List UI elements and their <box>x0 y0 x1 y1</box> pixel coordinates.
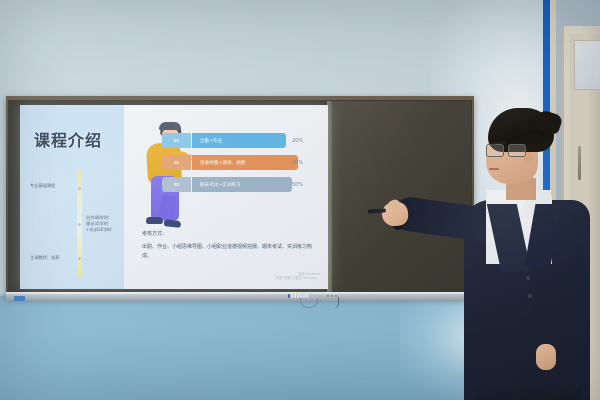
home-button[interactable] <box>306 294 308 298</box>
presenter <box>390 108 590 400</box>
assessment-heading: 考核方式： <box>142 230 167 237</box>
volume-down-button[interactable] <box>294 294 296 298</box>
timeline-item-1-label: 专业基础课程 <box>30 183 76 189</box>
glasses-lens-left <box>486 144 504 157</box>
presenter-trousers <box>476 386 582 400</box>
illustration-hair-top <box>159 122 181 130</box>
glasses-icon <box>486 144 526 155</box>
board-brand-badge <box>14 296 25 301</box>
input-button[interactable] <box>291 294 293 298</box>
bar-2-label: 思维导图+演讲、视频 <box>192 155 298 170</box>
bar-3-number: 03 <box>162 177 191 192</box>
bar-3-percent: 50% <box>292 182 303 188</box>
assessment-bar-3: 03 期末考试+实训练习 <box>162 177 284 192</box>
bar-3-label: 期末考试+实训练习 <box>192 177 292 192</box>
bar-1-number: 01 <box>162 133 191 148</box>
bar-1-label: 出勤+作业 <box>192 133 286 148</box>
power-button[interactable] <box>288 294 290 298</box>
timeline-item-2-label: 总共48学时： 理论32学时 +实训16学时 <box>86 215 126 233</box>
source-button[interactable] <box>303 294 305 298</box>
timeline-dot-3 <box>78 257 81 260</box>
slide-title: 课程介绍 <box>34 127 102 151</box>
door-window <box>574 40 600 90</box>
timeline-dot-2 <box>78 223 81 226</box>
illustration-shoe-right <box>164 219 182 228</box>
menu-button[interactable] <box>300 294 302 298</box>
assessment-bar-2: 02 思维导图+演讲、视频 <box>162 155 290 170</box>
glasses-lens-right <box>508 144 526 157</box>
bar-2-percent: 30% <box>292 160 303 166</box>
classroom-photo: 课程介绍 专业基础课程 总共48学时： 理论32学时 +实训16学时 主讲教师：… <box>0 0 600 400</box>
volume-up-button[interactable] <box>297 294 299 298</box>
windows-activation-watermark: 激活 Windows 转到“设置”以激活 Windows。 <box>276 272 320 281</box>
presenter-resting-hand <box>536 344 556 370</box>
illustration-shoe-left <box>146 217 163 224</box>
assessment-bar-1: 01 出勤+作业 <box>162 133 278 148</box>
timeline-item-3-label: 主讲教师：张燕 <box>30 255 78 261</box>
indicator-1 <box>327 295 329 297</box>
bar-1-percent: 20% <box>292 138 303 144</box>
presenter-jacket-button-2 <box>528 294 532 298</box>
presenter-jacket-button <box>526 276 530 280</box>
projected-slide[interactable]: 课程介绍 专业基础课程 总共48学时： 理论32学时 +实训16学时 主讲教师：… <box>20 105 328 289</box>
bar-2-number: 02 <box>162 155 191 170</box>
assessment-body: 出勤、作业、小组思维导图、小组职业道德视频拍摄、期末考试、实训练习构成。 <box>142 243 314 261</box>
timeline-dot-1 <box>78 187 81 190</box>
presenter-mouth <box>489 168 499 170</box>
